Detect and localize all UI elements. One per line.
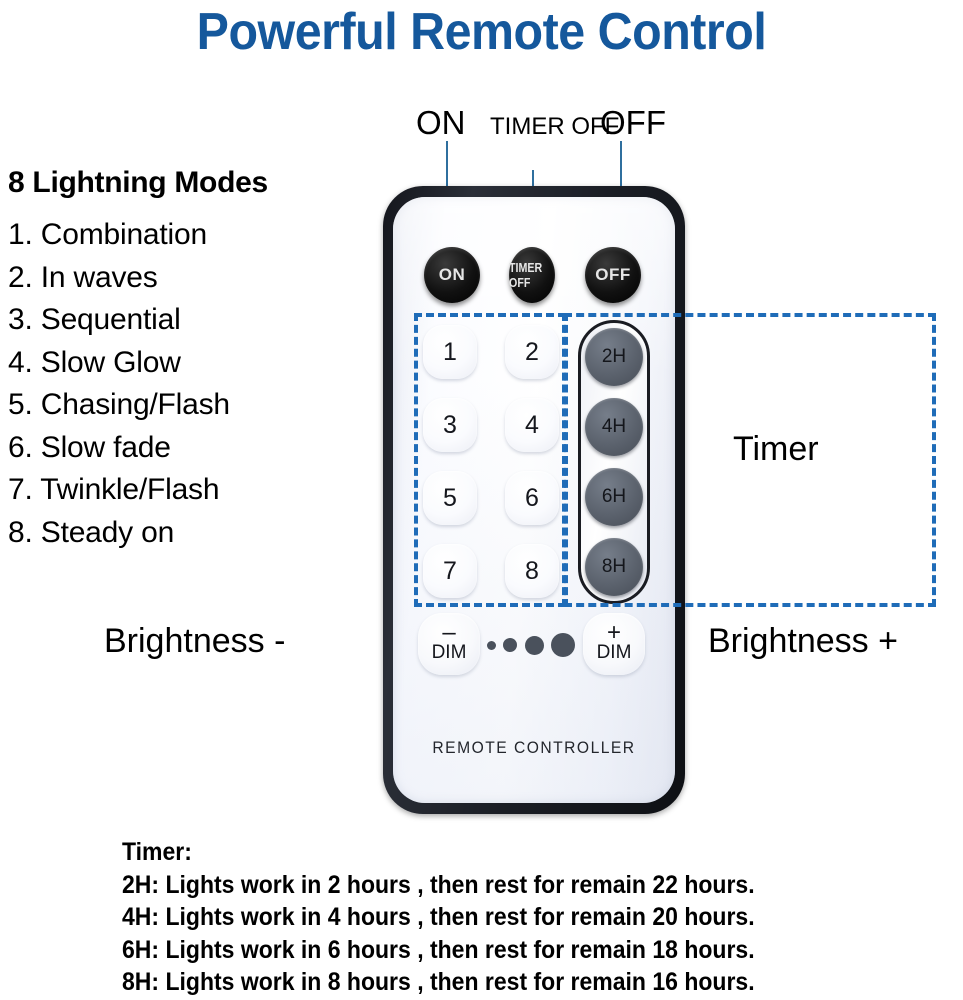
remote-button-timer-off[interactable]: TIMER OFF: [509, 247, 555, 303]
timer-notes: Timer: 2H: Lights work in 2 hours , then…: [122, 836, 962, 999]
list-item: 1. Combination: [8, 214, 368, 257]
dim-up-button[interactable]: + DIM: [583, 613, 645, 675]
timer-note-line: 6H: Lights work in 6 hours , then rest f…: [122, 934, 895, 967]
remote-brand-text: REMOTE CONTROLLER: [404, 738, 663, 758]
callout-label-brightness-minus: Brightness -: [104, 624, 285, 660]
list-item: 3. Sequential: [8, 299, 368, 342]
remote-button-off[interactable]: OFF: [585, 247, 641, 303]
dim-down-label: DIM: [432, 643, 467, 662]
brightness-dot-2: [503, 638, 517, 652]
timer-note-line: 4H: Lights work in 4 hours , then rest f…: [122, 901, 895, 934]
brightness-level-indicator: [487, 630, 575, 660]
timer-notes-heading: Timer:: [122, 836, 895, 869]
modes-heading: 8 Lightning Modes: [8, 166, 268, 200]
brightness-dot-3: [525, 636, 544, 655]
timer-note-line: 8H: Lights work in 8 hours , then rest f…: [122, 966, 895, 999]
timer-note-line: 2H: Lights work in 2 hours , then rest f…: [122, 869, 895, 902]
list-item: 4. Slow Glow: [8, 342, 368, 385]
callout-label-off: OFF: [600, 106, 666, 141]
remote-button-on[interactable]: ON: [424, 247, 480, 303]
callout-label-on: ON: [416, 106, 466, 141]
minus-icon: –: [442, 627, 455, 639]
plus-icon: +: [607, 627, 621, 639]
list-item: 7. Twinkle/Flash: [8, 469, 368, 512]
brightness-dot-4: [551, 633, 575, 657]
annotation-box-timer: [564, 313, 936, 607]
modes-list: 1. Combination 2. In waves 3. Sequential…: [8, 214, 368, 554]
list-item: 8. Steady on: [8, 512, 368, 555]
dim-up-label: DIM: [597, 643, 632, 662]
dim-down-button[interactable]: – DIM: [418, 613, 480, 675]
callout-label-brightness-plus: Brightness +: [708, 624, 898, 660]
page-title: Powerful Remote Control: [34, 2, 930, 62]
list-item: 6. Slow fade: [8, 427, 368, 470]
annotation-box-modes: [414, 313, 566, 607]
list-item: 5. Chasing/Flash: [8, 384, 368, 427]
brightness-dot-1: [487, 641, 496, 650]
list-item: 2. In waves: [8, 257, 368, 300]
callout-label-timer-off: TIMER OFF: [490, 112, 584, 142]
